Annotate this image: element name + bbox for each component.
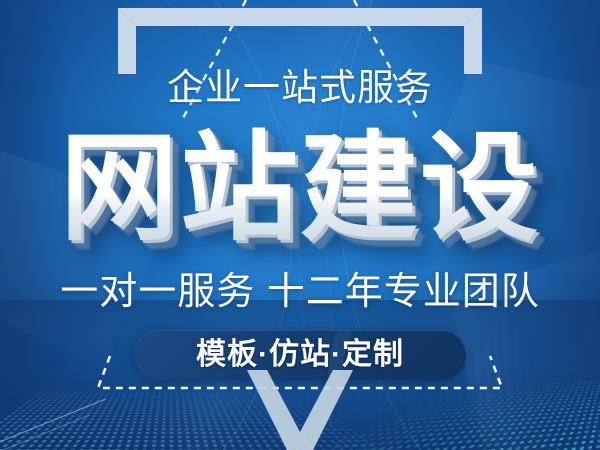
bracket-top-icon bbox=[118, 8, 482, 74]
promo-poster: 企业一站式服务 网站建设 一对一服务 十二年专业团队 模板·仿站·定制 bbox=[0, 0, 600, 450]
page-title: 网站建设 bbox=[0, 126, 600, 252]
page-subtitle: 一对一服务 十二年专业团队 bbox=[0, 270, 600, 314]
page-tagline: 企业一站式服务 bbox=[0, 66, 600, 110]
chevron-down-icon bbox=[241, 370, 359, 450]
